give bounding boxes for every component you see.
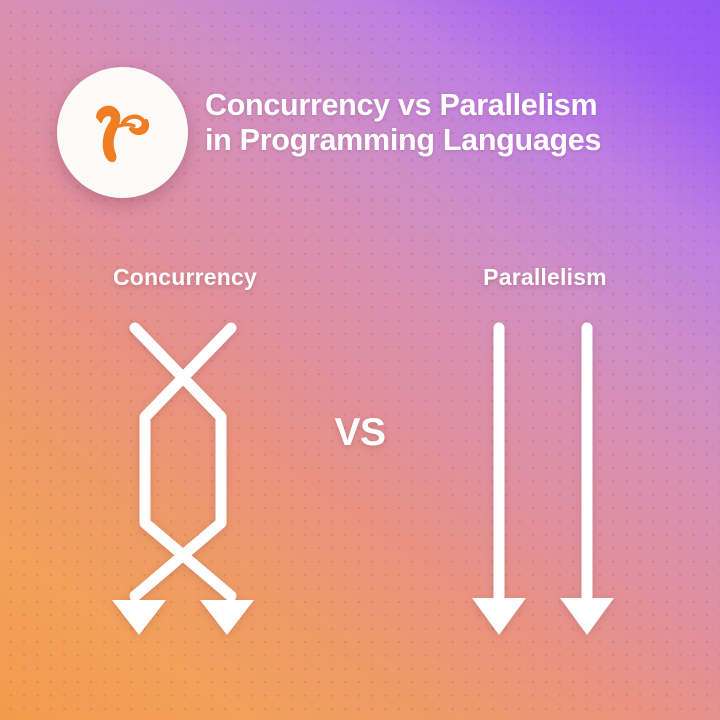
crossing-arrows-icon	[108, 310, 258, 640]
parallelism-arrowhead-left	[472, 598, 526, 635]
column-label-concurrency: Concurrency	[60, 264, 310, 291]
title-line-2: in Programming Languages	[205, 123, 705, 158]
poster-canvas: Concurrency vs Parallelism in Programmin…	[0, 0, 720, 720]
title-line-1: Concurrency vs Parallelism	[205, 88, 705, 123]
parallelism-arrowhead-right	[560, 598, 614, 635]
squirrel-logo-icon	[83, 93, 163, 173]
concurrency-arrowhead-left	[112, 600, 166, 635]
concurrency-diagram	[108, 310, 258, 640]
page-title: Concurrency vs Parallelism in Programmin…	[205, 88, 705, 158]
versus-label: VS	[310, 408, 410, 458]
header: Concurrency vs Parallelism in Programmin…	[0, 0, 720, 230]
parallelism-diagram	[468, 310, 618, 640]
concurrency-arrowhead-right	[200, 600, 254, 635]
column-label-parallelism: Parallelism	[420, 264, 670, 291]
logo-badge	[57, 67, 188, 198]
parallel-arrows-icon	[468, 310, 618, 640]
